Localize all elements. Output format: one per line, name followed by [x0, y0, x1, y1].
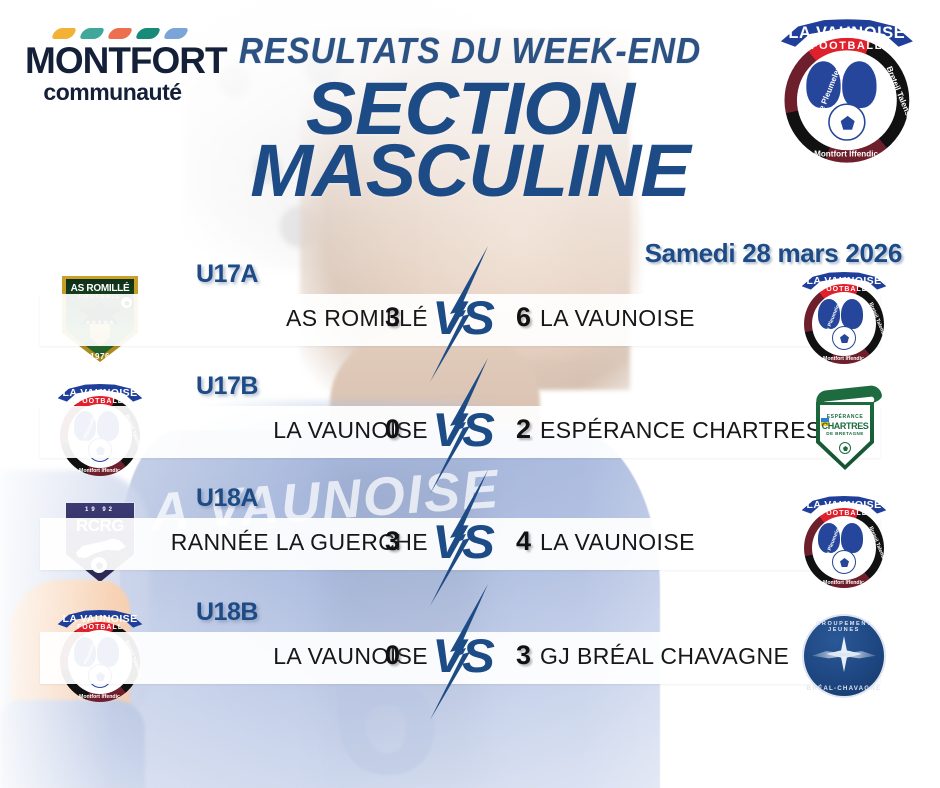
crest-year: 19 92: [64, 507, 136, 513]
away-crest-esperance-chartres: ESPÉRANCE CHARTRES DE BRETAGNE: [796, 382, 892, 478]
crest-club-name: AS ROMILLÉ: [66, 283, 134, 294]
vs-label: VS: [407, 514, 516, 569]
home-team-score: 3: [385, 526, 400, 557]
crest-line2: CHARTRES: [820, 421, 870, 431]
crest-line1: ESPÉRANCE: [820, 414, 870, 420]
away-team-name: GJ BRÉAL CHAVAGNE: [540, 643, 789, 670]
category-label: U17A: [196, 260, 258, 289]
away-crest-gj-breal-chavagne: GROUPEMENT JEUNES BRÉAL-CHAVAGNE: [796, 608, 892, 704]
crest-head-right-icon: [842, 61, 876, 108]
vs-graphic: VS: [404, 582, 516, 722]
crest-club-sub: FOOTBALL: [52, 624, 148, 631]
crest-football-icon: [832, 326, 856, 350]
category-label: U18B: [196, 598, 258, 627]
crest-head-right-icon: [841, 299, 863, 329]
home-team-score: 0: [385, 640, 400, 671]
away-crest-la-vaunoise: Bédée Pleumeleuc Breteil Talensac Montfo…: [796, 270, 892, 366]
away-team-score: 6: [516, 302, 531, 333]
crest-arc-top: GROUPEMENT JEUNES: [802, 621, 886, 633]
crest-club-sub: FOOTBALL: [796, 510, 892, 517]
away-crest-la-vaunoise: Bédée Pleumeleuc Breteil Talensac Montfo…: [796, 494, 892, 590]
away-team-score: 2: [516, 414, 531, 445]
club-crest-main: Bédée Pleumeleuc Breteil Talensac Montfo…: [772, 16, 922, 176]
crest-club-sub: FOOTBALL: [796, 286, 892, 293]
crest-arc-bottom: Montfort Iffendic: [823, 356, 864, 362]
away-team-score: 4: [516, 526, 531, 557]
crest-arc-bottom: Montfort Iffendic: [823, 580, 864, 586]
crest-football-icon: [832, 550, 856, 574]
crest-club-name: LA VAUNOISE: [772, 24, 922, 43]
vs-label: VS: [407, 402, 516, 457]
crest-arc-bottom: BRÉAL-CHAVAGNE: [802, 685, 886, 692]
crest-year: 1976: [62, 352, 138, 361]
away-team-name: LA VAUNOISE: [540, 305, 695, 332]
crest-football-icon: [839, 442, 851, 454]
crest-arc-bottom: Montfort Iffendic: [814, 150, 878, 159]
match-row: Bédée Pleumeleuc Breteil Talensac Montfo…: [0, 370, 940, 480]
crest-club-sub: FOOTBALL: [772, 41, 922, 52]
category-label: U17B: [196, 372, 258, 401]
crest-arc-bottom: Montfort Iffendic: [79, 468, 120, 474]
home-team-score: 3: [385, 302, 400, 333]
crest-club-sub: FOOTBALL: [52, 398, 148, 405]
crest-football-icon: [828, 103, 865, 140]
away-team-name: ESPÉRANCE CHARTRES: [540, 417, 822, 444]
category-label: U18A: [196, 484, 258, 513]
home-team-score: 0: [385, 414, 400, 445]
crest-line3: DE BRETAGNE: [820, 431, 870, 436]
crest-head-right-icon: [841, 523, 863, 553]
away-team-score: 3: [516, 640, 531, 671]
crest-arc-bottom: Montfort Iffendic: [79, 694, 120, 700]
match-row: AS ROMILLÉ FOOTBALL ★★★★★ 1976 U17A AS R…: [0, 258, 940, 368]
vs-label: VS: [407, 628, 516, 683]
match-row: Bédée Pleumeleuc Breteil Talensac Montfo…: [0, 596, 940, 706]
away-team-name: LA VAUNOISE: [540, 529, 695, 556]
vs-label: VS: [407, 290, 516, 345]
match-row: 19 92 RCRG U18A RANNÉE LA GUERCHE 3 VS 4…: [0, 482, 940, 592]
